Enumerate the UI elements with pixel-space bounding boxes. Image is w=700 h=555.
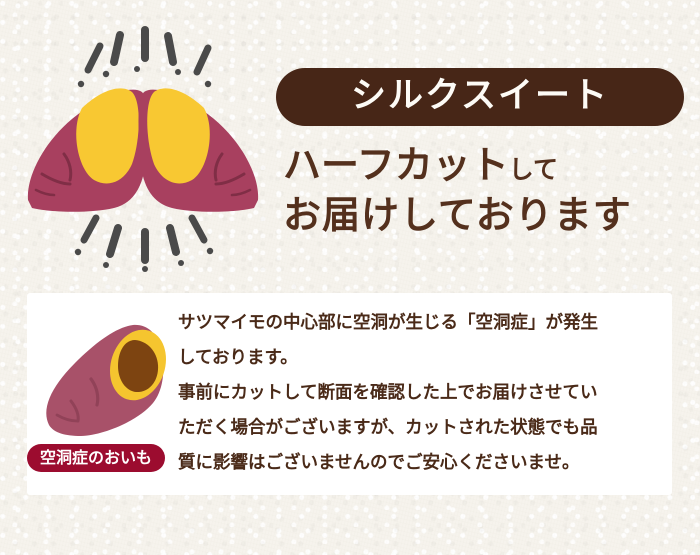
hero-subtitle: ハーフカットして お届けしております	[283, 146, 691, 234]
cavity-potato-badge-label: 空洞症のおいも	[40, 450, 152, 466]
promo-banner: シルクスイート ハーフカットして お届けしております サツマイモの中心部に空洞が…	[0, 0, 700, 555]
body-line: ただく場合がございますが、カットされた状態でも品	[178, 411, 668, 446]
cut-sweet-potato-svg	[35, 305, 180, 445]
sparkle-dashes-top	[78, 30, 211, 87]
sparkle-dashes-bottom	[75, 218, 213, 272]
product-title-text: シルクスイート	[351, 79, 609, 116]
body-line: しております。	[178, 341, 668, 376]
subtitle-line-2: お届けしております	[283, 196, 691, 234]
halved-sweet-potatoes-svg	[18, 22, 268, 272]
body-line: 事前にカットして断面を確認した上でお届けさせてい	[178, 376, 668, 411]
potato-half-left	[28, 88, 148, 211]
potato-half-right	[139, 88, 259, 211]
body-line: 質に影響はございませんのでご安心くださいませ。	[178, 446, 668, 481]
cavity-potato-badge: 空洞症のおいも	[27, 444, 165, 472]
subtitle-line-1-large: ハーフカット	[283, 143, 509, 187]
subtitle-line-1-small: して	[509, 155, 558, 184]
halved-sweet-potatoes-illustration	[18, 22, 268, 272]
hero-section: シルクスイート ハーフカットして お届けしております	[0, 0, 700, 290]
body-line: サツマイモの中心部に空洞が生じる「空洞症」が発生	[178, 306, 668, 341]
subtitle-line-1: ハーフカットして	[283, 146, 691, 184]
card-body-text: サツマイモの中心部に空洞が生じる「空洞症」が発生 しております。 事前にカットし…	[178, 306, 668, 481]
cut-sweet-potato-illustration	[35, 305, 180, 445]
product-title-pill: シルクスイート	[276, 68, 684, 126]
